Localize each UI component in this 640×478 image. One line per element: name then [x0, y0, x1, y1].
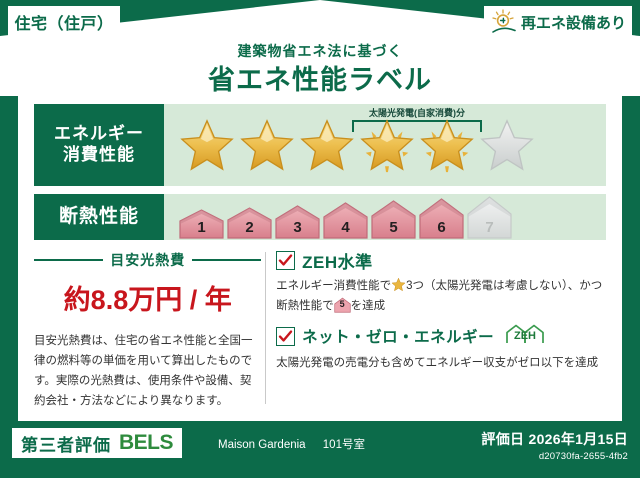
house-icon-level-2: 2: [226, 205, 273, 240]
checkbox-checked-icon: [276, 251, 295, 270]
house-icon-level-3: 3: [274, 203, 321, 240]
utility-cost-note: 目安光熱費は、住宅の省エネ性能と全国一律の燃料等の単価を用いて算出したものです。…: [34, 331, 261, 412]
bels-en-text: BELS: [119, 431, 173, 455]
star-icon-solar: [418, 116, 476, 174]
house-icon: 5: [334, 297, 351, 313]
house-level-number: 3: [274, 219, 321, 236]
energy-label-line1: エネルギー: [54, 124, 144, 145]
insulation-performance-label: 断熱性能: [34, 194, 164, 240]
insulation-rating-area: 1 2 3: [164, 194, 606, 240]
building-type-badge: 住宅（住戸）: [8, 6, 120, 38]
footer-band: 第三者評価 BELS Maison Gardenia 101号室 評価日 202…: [0, 421, 640, 478]
label-body-panel: エネルギー 消費性能 太陽光発電(自家消費)分: [18, 96, 622, 421]
criterion-zeh-title: ZEH水準: [302, 248, 373, 273]
house-level-number: 5: [334, 297, 351, 312]
insulation-performance-row: 断熱性能 1 2: [34, 194, 606, 240]
rule-left: [34, 259, 103, 261]
energy-performance-label: エネルギー 消費性能: [34, 104, 164, 186]
criterion-zeh-text-post: を達成: [351, 300, 386, 312]
energy-performance-row: エネルギー 消費性能 太陽光発電(自家消費)分: [34, 104, 606, 186]
zeh-logo-icon: ZEH: [504, 323, 548, 350]
utility-cost-value: 約8.8万円 / 年: [34, 278, 261, 317]
star-icon: [391, 277, 406, 292]
criterion-nze-title: ネット・ゼロ・エネルギー: [302, 325, 494, 347]
sun-icon: [490, 9, 518, 35]
star-icon: [298, 116, 356, 174]
evaluation-id: d20730fa-2655-4fb2: [481, 451, 628, 462]
lower-content: 目安光熱費 約8.8万円 / 年 目安光熱費は、住宅の省エネ性能と全国一律の燃料…: [34, 248, 606, 408]
house-icon-level-6: 6: [418, 196, 465, 240]
criterion-net-zero-energy: ネット・ゼロ・エネルギー ZEH 太陽光発電の売電分も含めてエネルギー収支がゼロ…: [276, 323, 606, 374]
checkbox-checked-icon: [276, 327, 295, 346]
house-icon-level-7-empty: 7: [466, 194, 513, 240]
rule-right: [192, 259, 261, 261]
house-icon-level-1: 1: [178, 207, 225, 240]
house-level-number: 6: [418, 219, 465, 236]
building-info: Maison Gardenia 101号室: [218, 436, 365, 452]
house-level-number: 1: [178, 219, 225, 236]
label-title: 省エネ性能ラベル: [0, 58, 640, 97]
criterion-zeh-text: エネルギー消費性能で3つ（太陽光発電は考慮しない）、かつ断熱性能で5を達成: [276, 277, 606, 317]
star-icon-empty: [478, 116, 536, 174]
house-icon-level-4: 4: [322, 200, 369, 240]
svg-text:ZEH: ZEH: [514, 330, 536, 342]
insulation-scale: 1 2 3: [178, 194, 513, 240]
house-level-number: 5: [370, 219, 417, 236]
building-name: Maison Gardenia: [218, 439, 306, 451]
criterion-zeh-standard: ZEH水準 エネルギー消費性能で3つ（太陽光発電は考慮しない）、かつ断熱性能で5…: [276, 248, 606, 317]
house-level-number: 2: [226, 219, 273, 236]
insulation-label-text: 断熱性能: [59, 205, 139, 228]
vertical-divider: [265, 252, 266, 404]
utility-cost-heading-text: 目安光熱費: [110, 250, 185, 270]
criteria-section: ZEH水準 エネルギー消費性能で3つ（太陽光発電は考慮しない）、かつ断熱性能で5…: [276, 248, 606, 408]
criterion-nze-text: 太陽光発電の売電分も含めてエネルギー収支がゼロ以下を達成: [276, 354, 606, 374]
utility-cost-section: 目安光熱費 約8.8万円 / 年 目安光熱費は、住宅の省エネ性能と全国一律の燃料…: [34, 248, 261, 408]
bels-logo: 第三者評価 BELS: [12, 428, 182, 458]
star-rating: 太陽光発電(自家消費)分: [178, 116, 536, 174]
building-type-label: 住宅（住戸）: [14, 10, 113, 34]
renewable-equipment-label: 再エネ設備あり: [521, 12, 626, 33]
criterion-zeh-header: ZEH水準: [276, 248, 606, 273]
star-icon-solar: [358, 116, 416, 174]
energy-rating-area: 太陽光発電(自家消費)分: [164, 104, 606, 186]
house-level-number: 4: [322, 219, 369, 236]
renewable-equipment-badge: 再エネ設備あり: [484, 6, 632, 38]
star-icon: [238, 116, 296, 174]
house-level-number: 7: [466, 219, 513, 236]
room-number: 101号室: [323, 439, 365, 451]
evaluation-info: 評価日 2026年1月15日 d20730fa-2655-4fb2: [481, 429, 628, 462]
star-icon: [178, 116, 236, 174]
header-band: 住宅（住戸） 再エネ設備あり 建築物省エネ法に基づく 省エネ性能ラベル: [0, 0, 640, 96]
criterion-nze-header: ネット・ゼロ・エネルギー ZEH: [276, 323, 606, 350]
energy-label-line2: 消費性能: [63, 145, 135, 166]
evaluation-date: 評価日 2026年1月15日: [481, 429, 628, 449]
house-icon-level-5: 5: [370, 198, 417, 240]
utility-cost-heading: 目安光熱費: [34, 250, 261, 270]
criterion-zeh-text-pre: エネルギー消費性能で: [276, 280, 391, 292]
energy-label-card: 住宅（住戸） 再エネ設備あり 建築物省エネ法に基づく 省エネ性能ラベル: [0, 0, 640, 478]
bels-jp-text: 第三者評価: [21, 431, 111, 456]
